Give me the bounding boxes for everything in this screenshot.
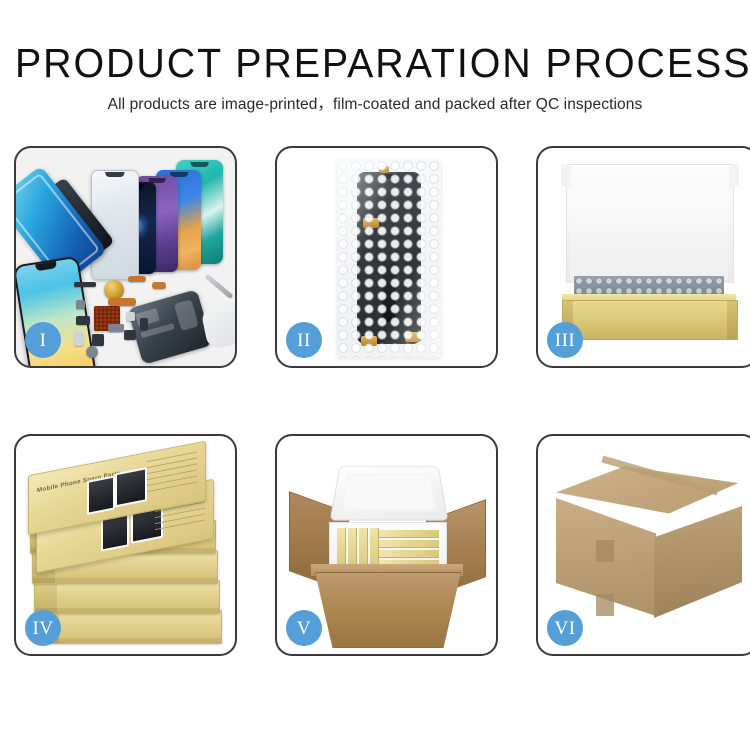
box-window-icon [87, 475, 115, 514]
step-panel-3: III [536, 146, 750, 368]
small-part [76, 316, 90, 325]
small-part [74, 332, 84, 346]
small-part [128, 276, 146, 282]
small-part [86, 346, 98, 358]
notch-icon [35, 261, 57, 271]
process-steps-grid: I II [14, 146, 736, 678]
notch-icon [190, 162, 209, 167]
copper-coil-part [104, 280, 124, 300]
small-part [76, 300, 85, 309]
small-part [108, 324, 124, 332]
step-badge-2: II [286, 322, 322, 358]
kraft-box-body [562, 300, 738, 340]
step-panel-2: II [275, 146, 498, 368]
carton-tape-mark [596, 540, 614, 562]
small-part [92, 334, 104, 346]
page-title: PRODUCT PREPARATION PROCESS [15, 0, 735, 86]
step-badge-5: V [286, 610, 322, 646]
page-subtitle: All products are image-printed，film-coat… [0, 86, 750, 115]
stacked-box [34, 580, 220, 614]
step-panel-5: V [275, 434, 498, 656]
carton-body [315, 572, 461, 648]
white-foam-sheet [570, 194, 728, 280]
carton-right-face [654, 506, 742, 618]
stacked-box [36, 610, 222, 644]
page-header: PRODUCT PREPARATION PROCESS All products… [0, 0, 750, 115]
bubble-wrap-bag [337, 160, 441, 358]
box-window-icon [115, 467, 147, 507]
product-preparation-process-page: PRODUCT PREPARATION PROCESS All products… [0, 0, 750, 750]
notch-icon [105, 172, 124, 177]
step-badge-6: VI [547, 610, 583, 646]
step-panel-1: I [14, 146, 237, 368]
small-part [108, 298, 136, 306]
small-part [140, 318, 148, 330]
small-part [152, 282, 166, 289]
carton-tape-mark [596, 594, 614, 616]
step-badge-1: I [25, 322, 61, 358]
step-panel-6: VI [536, 434, 750, 656]
small-part [124, 330, 136, 340]
small-part [126, 312, 135, 321]
small-part [74, 282, 96, 287]
box-spec-lines [147, 451, 197, 495]
step-badge-3: III [547, 322, 583, 358]
step-badge-4: IV [25, 610, 61, 646]
plastic-glare [337, 160, 441, 358]
foam-box-lid [330, 466, 449, 520]
step-panel-4: Mobile Phone Spare Parts Mobile Phone Sp… [14, 434, 237, 656]
